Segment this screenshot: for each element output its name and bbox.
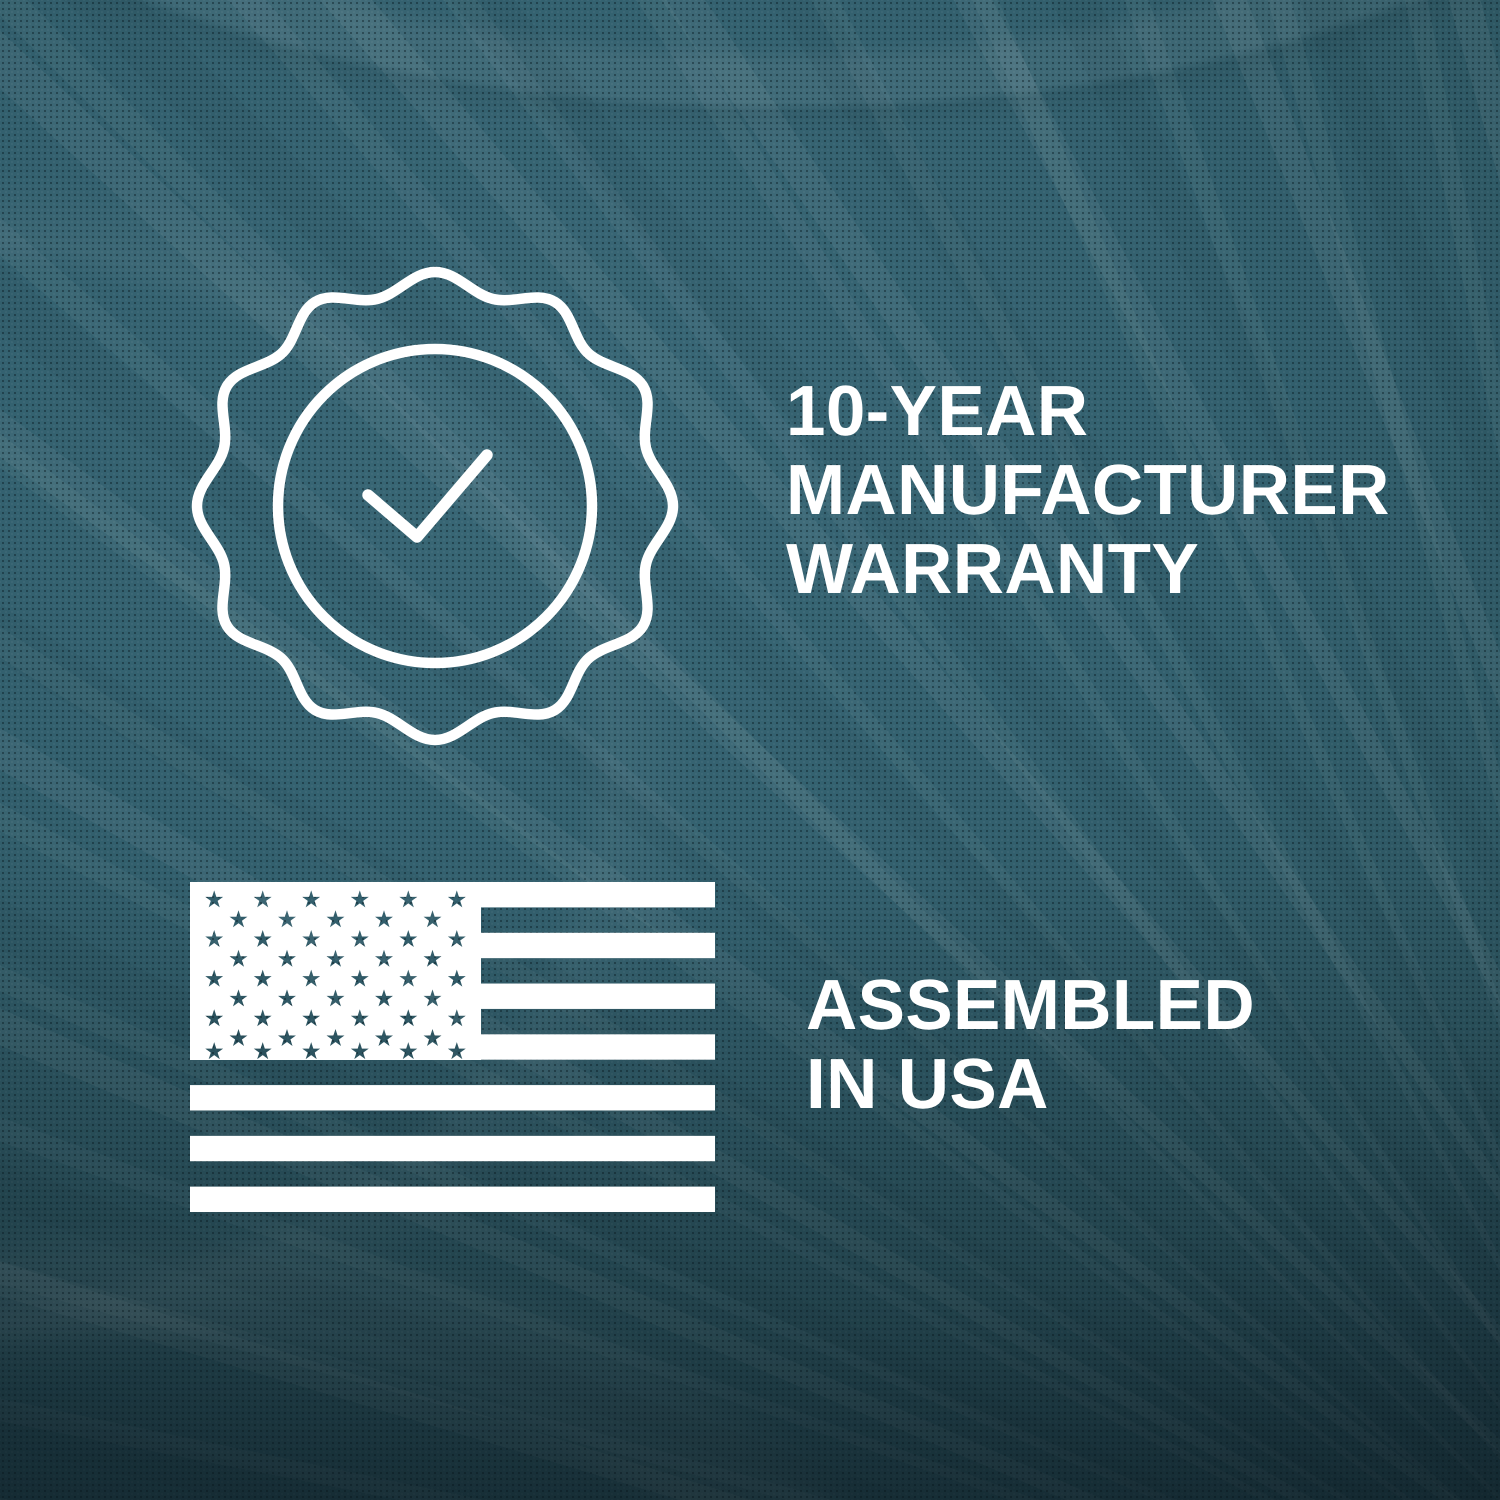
seal-scallop-outline — [197, 272, 673, 740]
usa-flag-icon — [190, 882, 715, 1212]
warranty-headline: 10-YEAR MANUFACTURER WARRANTY — [786, 372, 1436, 609]
checkmark-icon — [368, 455, 487, 537]
product-feature-panel: 10-YEAR MANUFACTURER WARRANTY — [0, 0, 1500, 1500]
flag-canton — [190, 882, 715, 1212]
warranty-seal-check-icon — [185, 258, 685, 758]
assembled-headline: ASSEMBLED IN USA — [806, 966, 1456, 1124]
seal-inner-circle — [278, 349, 592, 663]
